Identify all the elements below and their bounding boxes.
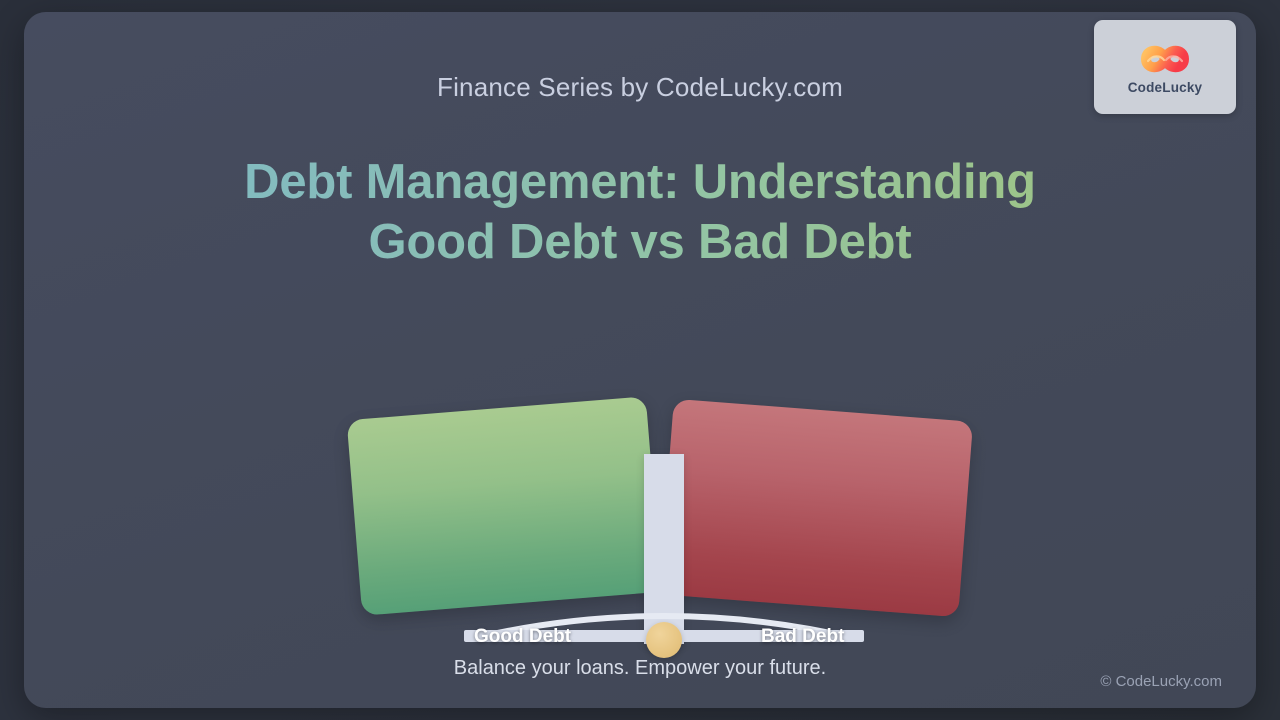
footer-credit: © CodeLucky.com — [1100, 673, 1222, 690]
scale-pivot — [646, 622, 682, 658]
page-title: Debt Management: Understanding Good Debt… — [24, 152, 1256, 272]
balance-scale-illustration: Good Debt Bad Debt — [324, 382, 1004, 662]
tagline: Balance your loans. Empower your future. — [24, 657, 1256, 680]
good-debt-pan — [347, 396, 662, 615]
slide-panel: CodeLucky Finance Series by CodeLucky.co… — [24, 12, 1256, 708]
bad-debt-pan — [659, 399, 973, 617]
series-eyebrow: Finance Series by CodeLucky.com — [24, 72, 1256, 103]
title-line-1: Debt Management: Understanding — [24, 152, 1256, 212]
title-line-2: Good Debt vs Bad Debt — [24, 212, 1256, 272]
good-debt-label: Good Debt — [474, 626, 571, 648]
slide-root: CodeLucky Finance Series by CodeLucky.co… — [0, 0, 1280, 720]
bad-debt-label: Bad Debt — [761, 626, 844, 648]
